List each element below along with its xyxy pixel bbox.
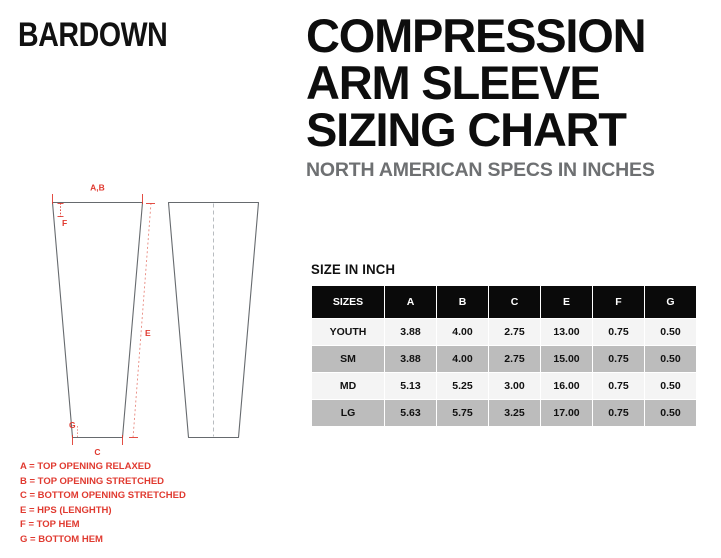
cell-a: 3.88 <box>385 346 436 372</box>
cell-e: 17.00 <box>541 400 592 426</box>
legend-item: A = TOP OPENING RELAXED <box>20 460 290 475</box>
title-line-1: COMPRESSION <box>306 12 698 59</box>
table-header-row: SIZES A B C E F G <box>312 286 696 318</box>
column-header-f: F <box>593 286 644 318</box>
cell-b: 4.00 <box>437 346 488 372</box>
cell-g: 0.50 <box>645 346 696 372</box>
cell-f: 0.75 <box>593 400 644 426</box>
title-line-3: SIZING CHART <box>306 106 698 153</box>
table-row: LG 5.63 5.75 3.25 17.00 0.75 0.50 <box>312 400 696 426</box>
callout-e-label: E <box>145 328 151 338</box>
chart-subtitle: NORTH AMERICAN SPECS IN INCHES <box>306 159 698 181</box>
cell-size: LG <box>312 400 384 426</box>
sleeve-technical-drawing: A,B F E G C <box>0 170 300 460</box>
column-header-a: A <box>385 286 436 318</box>
column-header-e: E <box>541 286 592 318</box>
cell-b: 4.00 <box>437 319 488 345</box>
cell-b: 5.25 <box>437 373 488 399</box>
table-row: SM 3.88 4.00 2.75 15.00 0.75 0.50 <box>312 346 696 372</box>
column-header-sizes: SIZES <box>312 286 384 318</box>
cell-e: 15.00 <box>541 346 592 372</box>
size-table-container: SIZES A B C E F G YOUTH 3.88 4.00 2.75 1… <box>311 285 692 427</box>
cell-f: 0.75 <box>593 346 644 372</box>
cell-c: 3.25 <box>489 400 540 426</box>
cell-a: 5.63 <box>385 400 436 426</box>
sleeve-back-outline <box>169 203 259 438</box>
callout-f-label: F <box>62 218 67 228</box>
sleeve-front-outline <box>53 203 143 438</box>
cell-b: 5.75 <box>437 400 488 426</box>
column-header-g: G <box>645 286 696 318</box>
cell-f: 0.75 <box>593 373 644 399</box>
legend-item: B = TOP OPENING STRETCHED <box>20 475 290 490</box>
column-header-c: C <box>489 286 540 318</box>
cell-g: 0.50 <box>645 400 696 426</box>
cell-size: MD <box>312 373 384 399</box>
legend-item: C = BOTTOM OPENING STRETCHED <box>20 489 290 504</box>
legend-item: F = TOP HEM <box>20 518 290 533</box>
cell-a: 5.13 <box>385 373 436 399</box>
column-header-b: B <box>437 286 488 318</box>
page-title: COMPRESSION ARM SLEEVE SIZING CHART NORT… <box>306 12 698 181</box>
table-row: YOUTH 3.88 4.00 2.75 13.00 0.75 0.50 <box>312 319 696 345</box>
cell-g: 0.50 <box>645 319 696 345</box>
measurement-legend: A = TOP OPENING RELAXED B = TOP OPENING … <box>20 460 290 548</box>
cell-e: 16.00 <box>541 373 592 399</box>
cell-a: 3.88 <box>385 319 436 345</box>
size-table: SIZES A B C E F G YOUTH 3.88 4.00 2.75 1… <box>311 285 697 427</box>
legend-item: G = BOTTOM HEM <box>20 533 290 548</box>
cell-c: 3.00 <box>489 373 540 399</box>
table-row: MD 5.13 5.25 3.00 16.00 0.75 0.50 <box>312 373 696 399</box>
cell-g: 0.50 <box>645 373 696 399</box>
cell-size: YOUTH <box>312 319 384 345</box>
cell-size: SM <box>312 346 384 372</box>
cell-c: 2.75 <box>489 319 540 345</box>
legend-item: E = HPS (LENGHTH) <box>20 504 290 519</box>
title-line-2: ARM SLEEVE <box>306 59 698 106</box>
brand-logo: BARDOWN <box>18 18 167 52</box>
callout-g-label: G <box>69 420 76 430</box>
callout-ab-label: A,B <box>90 183 105 193</box>
cell-c: 2.75 <box>489 346 540 372</box>
callout-c-label: C <box>94 447 100 457</box>
cell-f: 0.75 <box>593 319 644 345</box>
cell-e: 13.00 <box>541 319 592 345</box>
size-table-label: SIZE IN INCH <box>311 261 395 277</box>
